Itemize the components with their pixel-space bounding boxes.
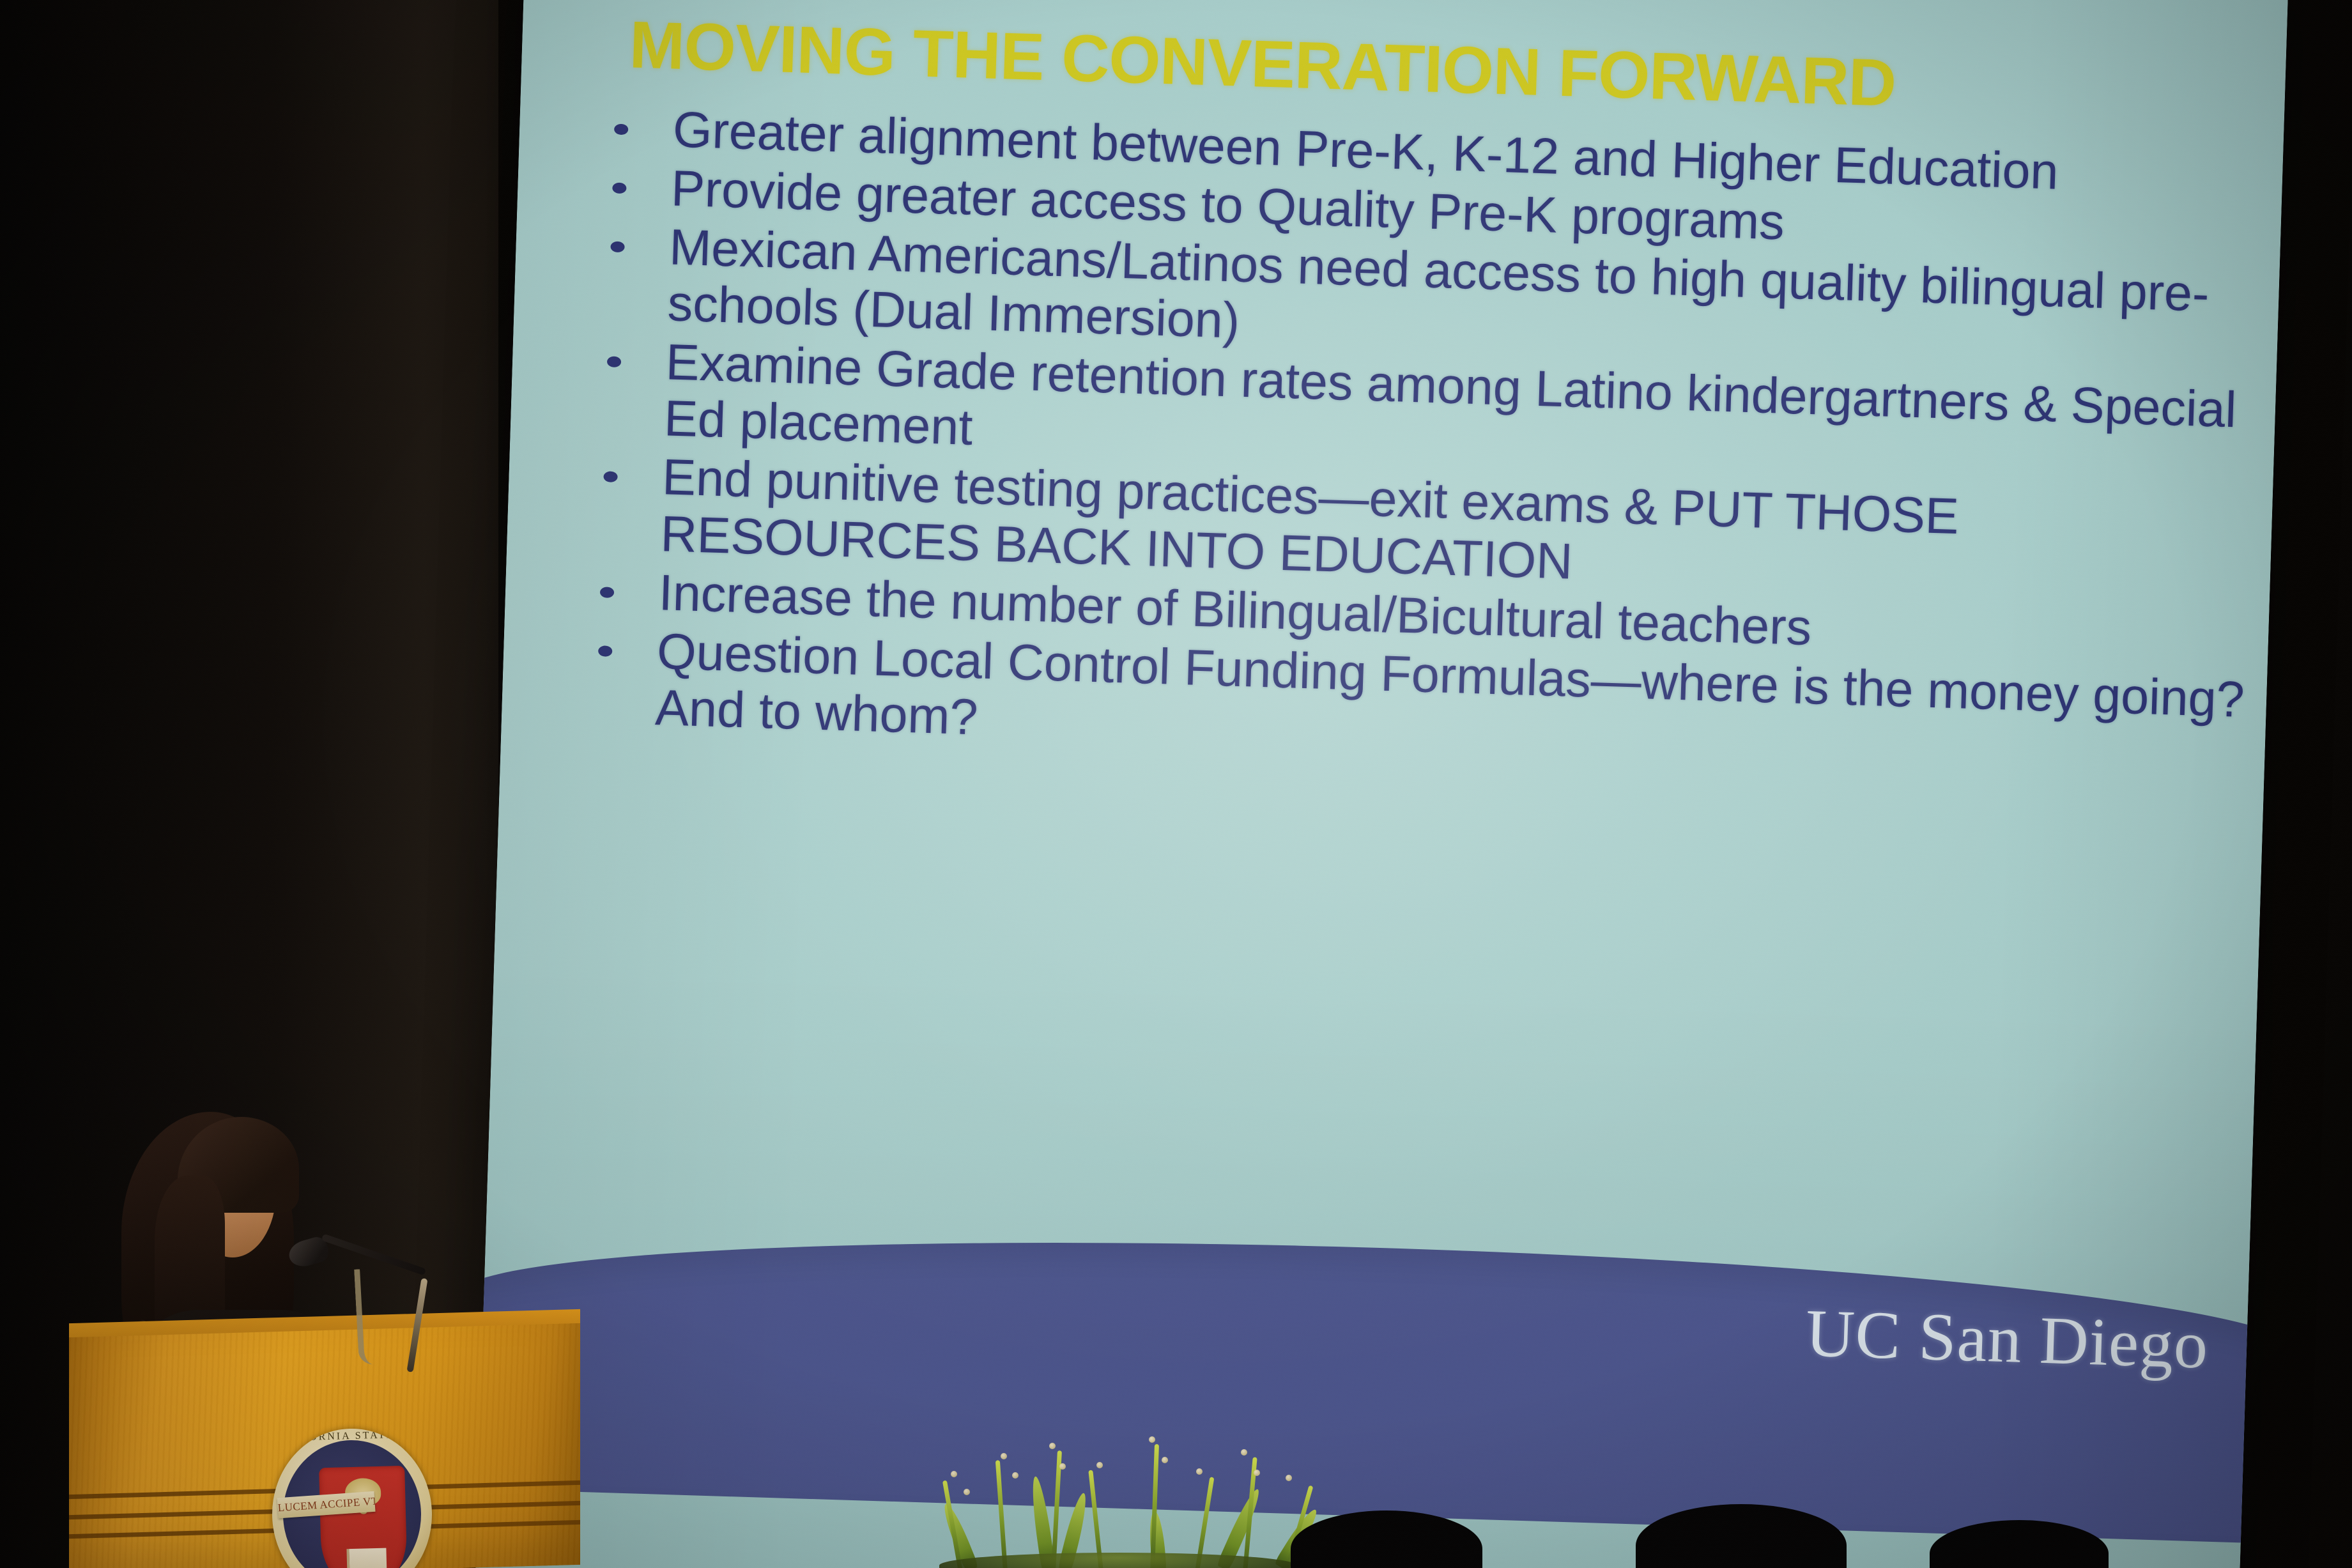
flower-blossom — [1241, 1449, 1247, 1456]
flower-blossom — [1162, 1457, 1168, 1463]
slide-content: MOVING THE CONVERATION FORWARD Greater a… — [479, 1, 2286, 1504]
flower-stem — [995, 1460, 1008, 1568]
uc-san-diego-logo: UC San Diego — [1804, 1294, 2210, 1384]
flower-blossom — [964, 1489, 970, 1495]
slide-footer-band: UC San Diego — [474, 1220, 2288, 1544]
flower-blossom — [1149, 1436, 1155, 1443]
bullet-dot-icon — [610, 242, 625, 253]
flower-blossom — [1254, 1470, 1260, 1476]
floral-arrangement — [875, 1438, 1361, 1568]
flower-blossom — [1286, 1475, 1292, 1481]
flower-blossom — [1049, 1443, 1056, 1449]
flower-blossom — [1096, 1462, 1103, 1468]
flower-blossom — [951, 1471, 957, 1477]
microphone — [275, 1233, 486, 1399]
bullet-dot-icon — [614, 124, 629, 135]
flower-blossom — [1001, 1453, 1007, 1459]
seal-inner-field: LUCEM ACCIPE VT REDDAS — [281, 1438, 423, 1568]
bullet-dot-icon — [612, 183, 627, 194]
open-book-icon — [346, 1548, 387, 1568]
bullet-dot-icon — [600, 587, 615, 598]
flower-blossom — [1059, 1463, 1066, 1470]
projection-screen: MOVING THE CONVERATION FORWARD Greater a… — [474, 0, 2288, 1568]
microphone-cable — [354, 1269, 374, 1365]
photo-stage: MOVING THE CONVERATION FORWARD Greater a… — [0, 0, 2352, 1568]
seal-shield — [319, 1466, 408, 1568]
bullet-dot-icon — [603, 472, 618, 483]
flower-base-foliage — [939, 1553, 1297, 1568]
flower-blossom — [1196, 1468, 1203, 1475]
microphone-stem — [406, 1278, 427, 1372]
microphone-boom — [321, 1234, 426, 1276]
bullet-dot-icon — [598, 645, 613, 657]
flower-blossom — [1012, 1472, 1018, 1479]
bullet-dot-icon — [607, 357, 622, 368]
slide-bullet-list: Greater alignment between Pre-K, K-12 an… — [578, 99, 2270, 787]
